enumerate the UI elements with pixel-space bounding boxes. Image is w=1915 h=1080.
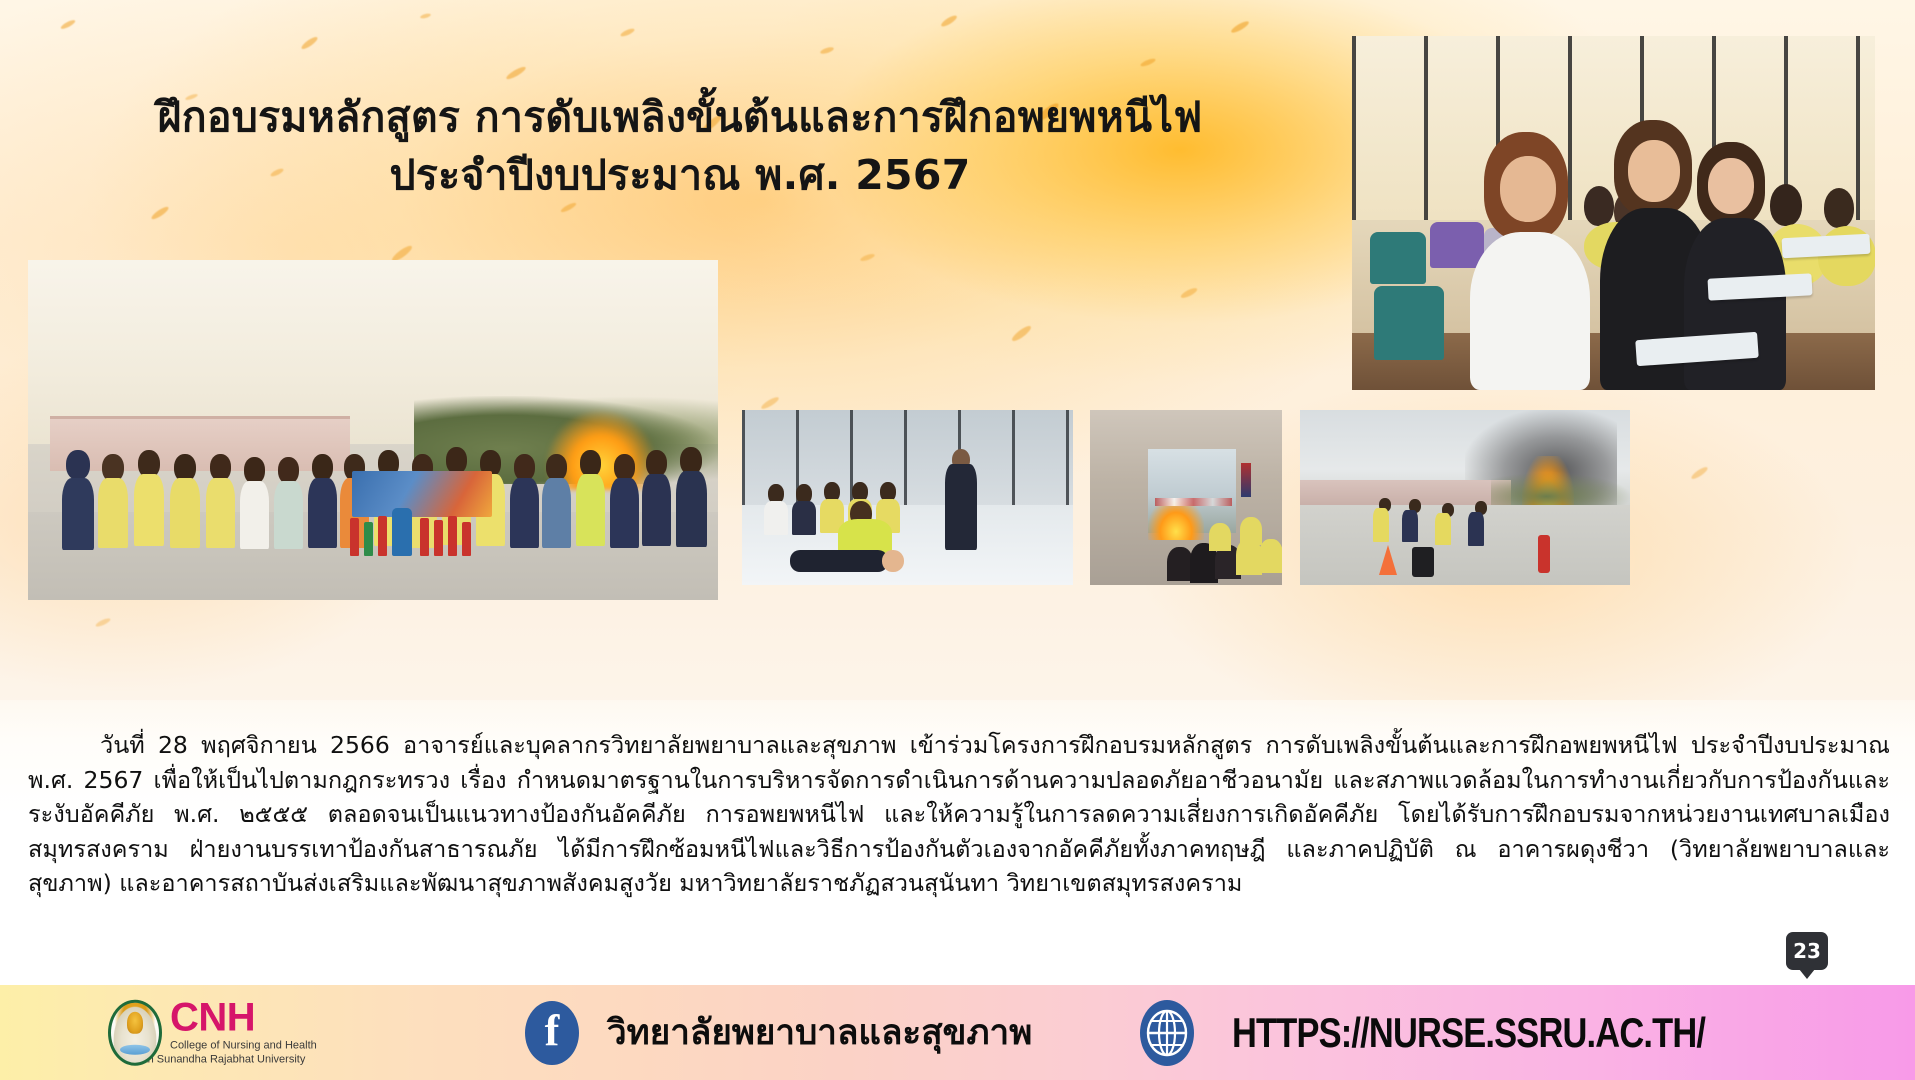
person bbox=[1770, 184, 1802, 226]
chair bbox=[1374, 286, 1444, 360]
fire-extinguisher bbox=[1538, 535, 1550, 573]
cnh-logo: CNH College of Nursing and Health Suan S… bbox=[108, 999, 317, 1066]
desk bbox=[1707, 273, 1812, 300]
chair bbox=[1430, 222, 1484, 268]
traffic-cone bbox=[1379, 545, 1397, 575]
cnh-university-name: Suan Sunandha Rajabhat University bbox=[128, 1054, 317, 1066]
facebook-page-name: วิทยาลัยพยาบาลและสุขภาพ bbox=[607, 1005, 1032, 1060]
fire-extinguisher bbox=[350, 518, 359, 556]
footer-bar: CNH College of Nursing and Health Suan S… bbox=[0, 985, 1915, 1080]
cpr-demonstration-photo bbox=[742, 410, 1073, 585]
parked-cars bbox=[1155, 498, 1232, 506]
cnh-logo-text: CNH College of Nursing and Health Suan S… bbox=[170, 999, 317, 1066]
road bbox=[1300, 505, 1630, 586]
outdoor-extinguisher-drill-photo bbox=[1300, 410, 1630, 585]
person bbox=[1628, 140, 1680, 202]
title-line-2: ประจำปีงบประมาณ พ.ศ. 2567 bbox=[30, 146, 1330, 204]
cnh-abbreviation: CNH bbox=[170, 999, 317, 1037]
water-drum bbox=[1412, 547, 1434, 577]
cnh-college-name: College of Nursing and Health bbox=[170, 1040, 317, 1052]
chair bbox=[1370, 232, 1426, 284]
fire-extinguisher bbox=[434, 520, 443, 556]
person bbox=[1684, 218, 1786, 390]
facebook-link[interactable]: f วิทยาลัยพยาบาลและสุขภาพ bbox=[525, 1001, 1032, 1065]
fire-extinguisher bbox=[448, 516, 457, 556]
facebook-icon[interactable]: f bbox=[525, 1001, 579, 1065]
fire-extinguisher bbox=[378, 516, 387, 556]
gas-cylinder bbox=[392, 508, 412, 556]
slide-canvas: ฝึกอบรมหลักสูตร การดับเพลิงขั้นต้นและการ… bbox=[0, 0, 1915, 1080]
person bbox=[1708, 158, 1754, 214]
slide-title: ฝึกอบรมหลักสูตร การดับเพลิงขั้นต้นและการ… bbox=[30, 88, 1330, 204]
classroom-audience-photo bbox=[1352, 36, 1875, 390]
fire-extinguisher bbox=[462, 522, 471, 556]
building bbox=[50, 416, 350, 470]
globe-icon[interactable] bbox=[1140, 1000, 1194, 1066]
university-seal-icon bbox=[108, 1000, 162, 1066]
fire-extinguisher bbox=[420, 518, 429, 556]
person bbox=[1470, 232, 1590, 390]
person bbox=[1584, 186, 1614, 226]
body-paragraph: วันที่ 28 พฤศจิกายน 2566 อาจารย์และบุคลา… bbox=[28, 728, 1890, 901]
group-photo bbox=[28, 260, 718, 600]
website-link[interactable]: HTTPS://NURSE.SSRU.AC.TH/ bbox=[1140, 1000, 1809, 1066]
person bbox=[1500, 156, 1556, 222]
fire-extinguisher bbox=[364, 522, 373, 556]
page-number-badge[interactable]: 23 bbox=[1786, 932, 1828, 970]
person bbox=[1824, 188, 1854, 228]
website-url: HTTPS://NURSE.SSRU.AC.TH/ bbox=[1232, 1009, 1705, 1057]
flag bbox=[1241, 463, 1251, 497]
event-banner bbox=[352, 471, 492, 517]
glass-wall bbox=[742, 410, 1073, 506]
title-line-1: ฝึกอบรมหลักสูตร การดับเพลิงขั้นต้นและการ… bbox=[30, 88, 1330, 146]
corridor-fire-drill-photo bbox=[1090, 410, 1282, 585]
